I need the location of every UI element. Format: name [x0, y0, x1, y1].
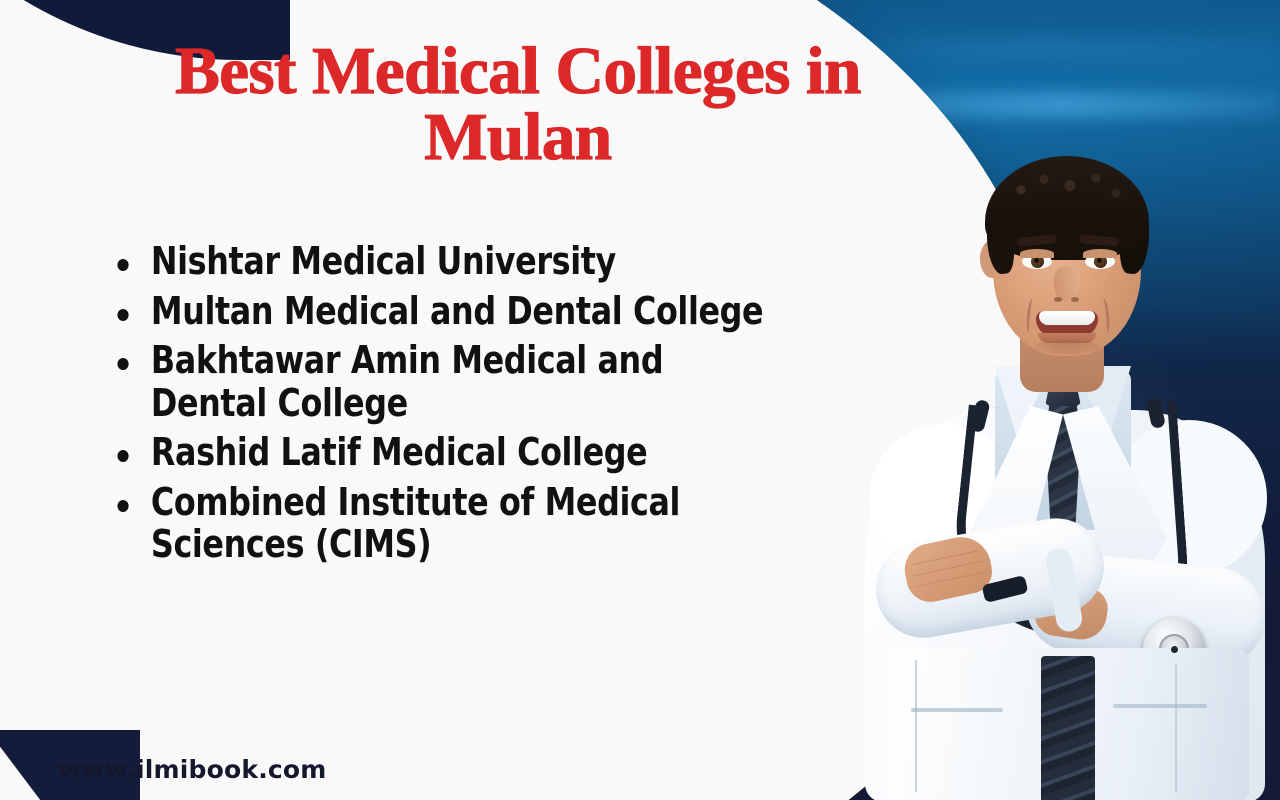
chin-shadow	[1035, 340, 1099, 354]
teeth	[1039, 311, 1095, 325]
eyelid-right	[1083, 249, 1117, 258]
list-item: Combined Institute of Medical Sciences (…	[110, 481, 789, 566]
list-item: Rashid Latif Medical College	[110, 431, 789, 474]
nostril-left	[1054, 297, 1062, 302]
page-title: Best Medical Colleges in Mulan	[108, 38, 928, 171]
list-item: Multan Medical and Dental College	[110, 290, 789, 333]
coat-fold-right	[1175, 664, 1177, 792]
hair-texture	[995, 162, 1139, 224]
doctor-illustration	[845, 148, 1280, 800]
page-title-line-2: Mulan	[424, 100, 611, 174]
coat-pocket-right	[1113, 704, 1207, 708]
coat-fold-left	[915, 660, 917, 792]
necktie-lower	[1041, 656, 1095, 800]
eyelid-left	[1020, 249, 1054, 258]
list-item: Bakhtawar Amin Medical and Dental Colleg…	[110, 339, 789, 424]
coat-pocket-left	[911, 708, 1003, 712]
college-list: Nishtar Medical University Multan Medica…	[110, 240, 840, 573]
website-url[interactable]: www.ilmibook.com	[58, 755, 327, 784]
poster-canvas: Best Medical Colleges in Mulan Nishtar M…	[0, 0, 1280, 800]
page-title-line-1: Best Medical Colleges in	[175, 34, 861, 108]
stethoscope-center-dot	[1171, 646, 1178, 653]
list-item: Nishtar Medical University	[110, 240, 789, 283]
nostril-right	[1071, 297, 1079, 302]
